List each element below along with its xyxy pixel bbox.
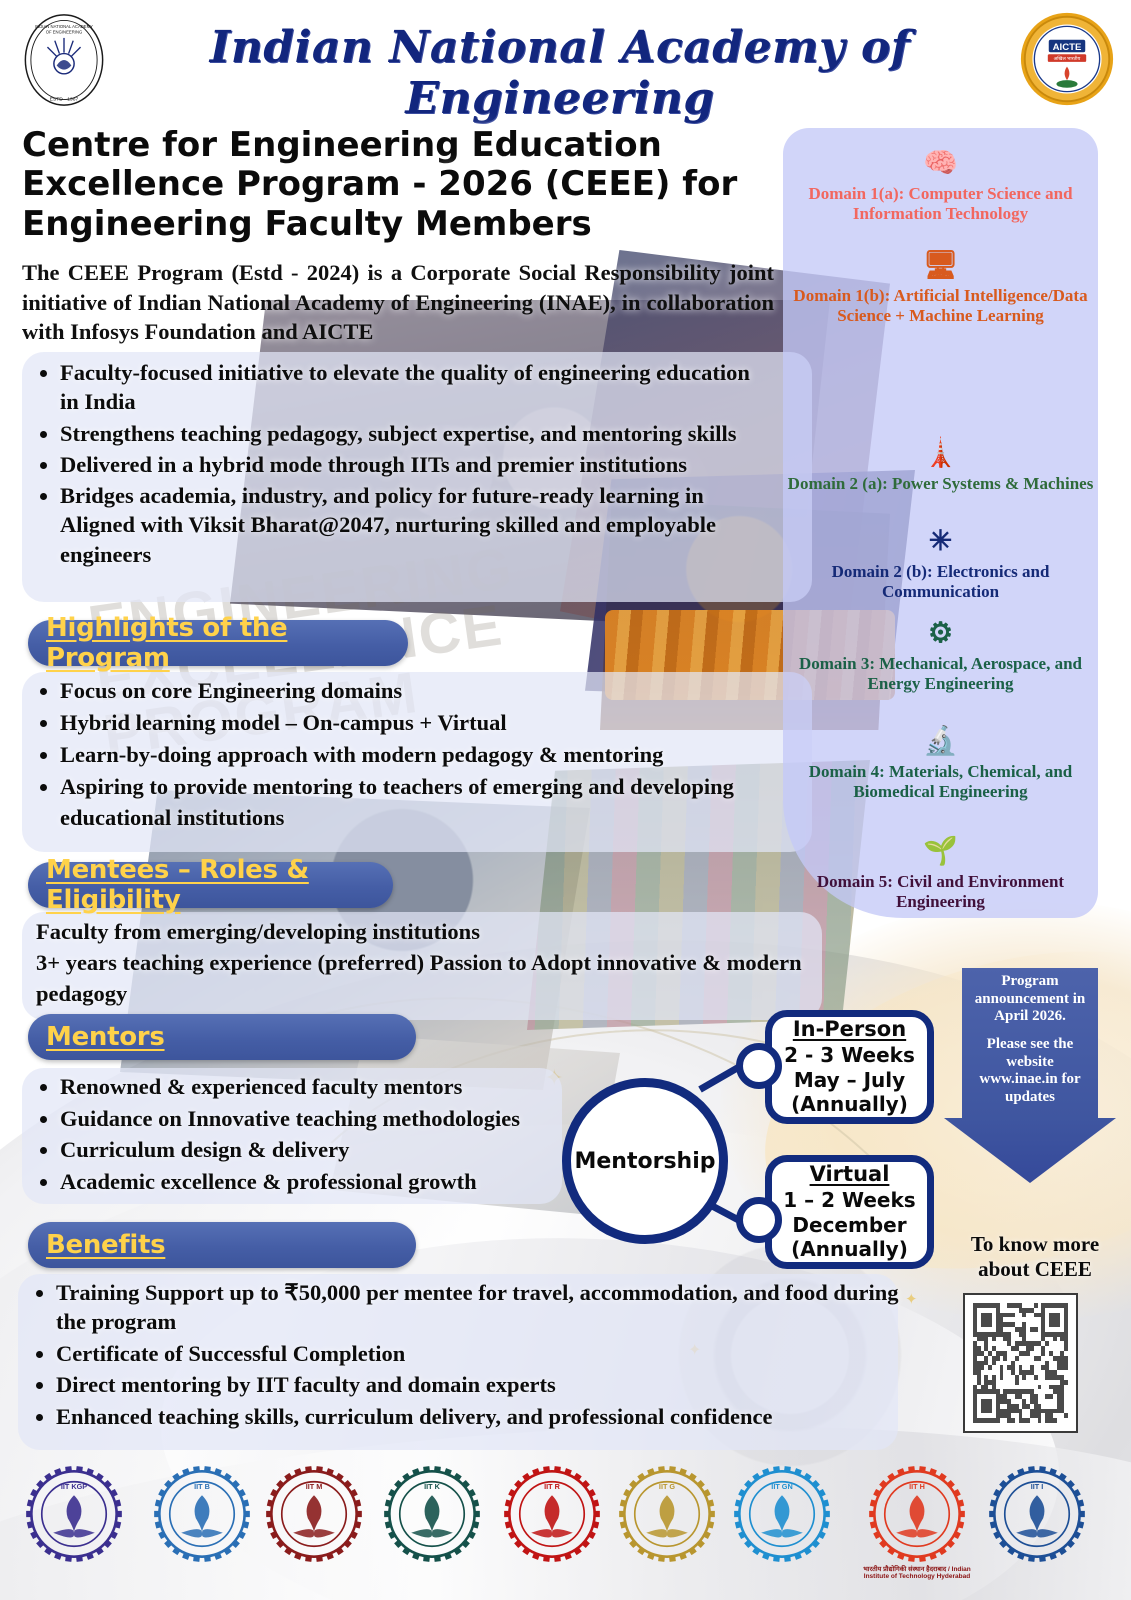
benefits-heading-label: Benefits — [46, 1230, 165, 1260]
benefits-bullet-list: Training Support up to ₹50,000 per mente… — [18, 1278, 926, 1433]
monitor-lightbulb-icon: 🖥 — [783, 252, 1098, 280]
domain-item-7: 🌱Domain 5: Civil and Environment Enginee… — [783, 838, 1098, 913]
list-item: Guidance on Innovative teaching methodol… — [60, 1104, 608, 1134]
mode-line: (Annually) — [772, 1237, 927, 1261]
list-item: Aspiring to provide mentoring to teacher… — [60, 772, 820, 832]
list-item: Academic excellence & professional growt… — [60, 1167, 608, 1197]
list-item: Learn-by-doing approach with modern peda… — [60, 740, 820, 770]
domain-item-1: 🧠Domain 1(a): Computer Science and Infor… — [783, 150, 1098, 225]
svg-text:IIT R: IIT R — [544, 1482, 560, 1491]
qr-module — [1064, 1418, 1068, 1423]
iit-kanpur-logo: IIT K — [380, 1462, 484, 1566]
qr-caption: To know more about CEEE — [950, 1232, 1120, 1282]
highlights-bullet-list: Focus on core Engineering domainsHybrid … — [22, 676, 820, 835]
page-title: Centre for Engineering Education Excelle… — [22, 126, 782, 244]
announcement-line-2: Please see the website www.inae.in for u… — [966, 1036, 1094, 1107]
mentees-heading-label: Mentees – Roles & Eligibility — [46, 855, 393, 915]
mentees-eligibility-text: Faculty from emerging/developing institu… — [36, 916, 826, 1009]
domain-item-6: 🔬Domain 4: Materials, Chemical, and Biom… — [783, 728, 1098, 803]
svg-text:AICTE: AICTE — [1053, 42, 1082, 53]
iit-gandhinagar-logo: IIT GN — [730, 1462, 834, 1566]
logo-caption: भारतीय प्रौद्योगिकी संस्थान हैदराबाद / I… — [852, 1566, 982, 1581]
svg-text:INDIAN NATIONAL ACADEMY: INDIAN NATIONAL ACADEMY — [35, 24, 93, 29]
domain-item-5: ⚙Domain 3: Mechanical, Aerospace, and En… — [783, 620, 1098, 695]
domain-item-2: 🖥Domain 1(b): Artificial Intelligence/Da… — [783, 252, 1098, 327]
list-item: Bridges academia, industry, and policy f… — [60, 481, 760, 569]
list-item: Enhanced teaching skills, curriculum del… — [56, 1402, 926, 1431]
svg-text:IIT B: IIT B — [194, 1482, 210, 1491]
circuit-node-icon: ✳ — [783, 528, 1098, 556]
junction-node-virtual — [736, 1197, 782, 1243]
domain-label: Domain 2 (b): Electronics and Communicat… — [832, 562, 1050, 601]
aerospace-gears-icon: ⚙ — [783, 620, 1098, 648]
poster-header: ESTD - 1987 INDIAN NATIONAL ACADEMY OF E… — [0, 0, 1131, 118]
mentors-bullet-list: Renowned & experienced faculty mentorsGu… — [22, 1072, 608, 1199]
iit-kharagpur-logo: IIT KGP — [22, 1462, 126, 1566]
list-item: Renowned & experienced faculty mentors — [60, 1072, 608, 1102]
inae-seal-icon: ESTD - 1987 INDIAN NATIONAL ACADEMY OF E… — [18, 12, 110, 108]
academy-title: Indian National Academy of Engineering — [120, 22, 1000, 124]
announcement-body: Program announcement in April 2026. Plea… — [962, 968, 1098, 1118]
svg-text:IIT H: IIT H — [909, 1482, 925, 1491]
domain-label: Domain 2 (a): Power Systems & Machines — [788, 474, 1094, 493]
domain-label: Domain 3: Mechanical, Aerospace, and Ene… — [799, 654, 1082, 693]
list-item: Training Support up to ₹50,000 per mente… — [56, 1278, 926, 1337]
benefits-heading-pill: Benefits — [28, 1222, 416, 1268]
plant-helmet-icon: 🌱 — [783, 838, 1098, 866]
list-item: Curriculum design & delivery — [60, 1135, 608, 1165]
svg-text:IIT I: IIT I — [1031, 1482, 1044, 1491]
domain-item-3: 🗼Domain 2 (a): Power Systems & Machines — [783, 440, 1098, 494]
list-item: Strengthens teaching pedagogy, subject e… — [60, 419, 760, 448]
svg-text:ESTD - 1987: ESTD - 1987 — [50, 96, 79, 102]
announcement-arrowhead — [944, 1118, 1116, 1183]
mentorship-center-node: Mentorship — [562, 1078, 728, 1244]
iit-roorkee-logo: IIT R — [500, 1462, 604, 1566]
svg-text:IIT K: IIT K — [424, 1482, 440, 1491]
mode-card-virtual: Virtual 1 – 2 Weeks December (Annually) — [765, 1155, 934, 1269]
list-item: Certificate of Successful Completion — [56, 1339, 926, 1368]
domain-label: Domain 1(a): Computer Science and Inform… — [808, 184, 1072, 223]
about-bullet-list: Faculty-focused initiative to elevate th… — [22, 358, 760, 571]
poster-root: ✦ ✦ ✦ ENGINEERING EXCELLENCE PROGRAM — [0, 0, 1131, 1600]
highlights-heading-pill: Highlights of the Program — [28, 620, 408, 666]
mentees-heading-pill: Mentees – Roles & Eligibility — [28, 862, 393, 908]
list-item: Focus on core Engineering domains — [60, 676, 820, 706]
svg-text:OF ENGINEERING: OF ENGINEERING — [46, 29, 83, 34]
domain-label: Domain 5: Civil and Environment Engineer… — [817, 872, 1064, 911]
announcement-arrow: Program announcement in April 2026. Plea… — [944, 968, 1116, 1183]
mode-heading: In-Person — [772, 1017, 927, 1041]
announcement-line-1: Program announcement in April 2026. — [966, 973, 1094, 1026]
brain-chip-icon: 🧠 — [783, 150, 1098, 178]
mentors-heading-label: Mentors — [46, 1022, 165, 1052]
list-item: Faculty-focused initiative to elevate th… — [60, 358, 760, 417]
list-item: Direct mentoring by IIT faculty and doma… — [56, 1370, 926, 1399]
mode-line: 2 - 3 Weeks — [772, 1043, 927, 1067]
domain-label: Domain 4: Materials, Chemical, and Biome… — [809, 762, 1072, 801]
power-tower-icon: 🗼 — [783, 440, 1098, 468]
qr-code[interactable] — [963, 1293, 1078, 1433]
mode-line: (Annually) — [772, 1092, 927, 1116]
mode-card-in-person: In-Person 2 - 3 Weeks May – July (Annual… — [765, 1010, 934, 1124]
list-item: Hybrid learning model – On-campus + Virt… — [60, 708, 820, 738]
iit-hyderabad-logo: IIT Hभारतीय प्रौद्योगिकी संस्थान हैदराबा… — [865, 1462, 969, 1566]
mentors-heading-pill: Mentors — [28, 1014, 416, 1060]
list-item: Delivered in a hybrid mode through IITs … — [60, 450, 760, 479]
svg-text:IIT G: IIT G — [659, 1482, 675, 1491]
iit-madras-logo: IIT M — [262, 1462, 366, 1566]
mode-line: 1 – 2 Weeks — [772, 1188, 927, 1212]
microscope-gear-icon: 🔬 — [783, 728, 1098, 756]
qr-code-matrix — [973, 1303, 1068, 1423]
mode-heading: Virtual — [772, 1162, 927, 1186]
mode-line: December — [772, 1213, 927, 1237]
svg-text:IIT M: IIT M — [306, 1482, 323, 1491]
aicte-seal-icon: AICTE अखिल भारतीय — [1019, 10, 1115, 108]
domain-label: Domain 1(b): Artificial Intelligence/Dat… — [793, 286, 1087, 325]
mentorship-center-label: Mentorship — [574, 1149, 715, 1174]
iit-bombay-logo: IIT B — [150, 1462, 254, 1566]
iit-guwahati-logo: IIT G — [615, 1462, 719, 1566]
svg-text:IIT GN: IIT GN — [771, 1482, 792, 1491]
mode-line: May – July — [772, 1068, 927, 1092]
junction-node-in-person — [736, 1043, 782, 1089]
highlights-heading-label: Highlights of the Program — [46, 613, 408, 673]
iit-indore-logo: IIT I — [985, 1462, 1089, 1566]
svg-text:IIT KGP: IIT KGP — [61, 1482, 87, 1491]
domain-item-4: ✳Domain 2 (b): Electronics and Communica… — [783, 528, 1098, 603]
partner-logos-row: IIT KGPIIT BIIT MIIT KIIT RIIT GIIT GNII… — [0, 1452, 1131, 1600]
intro-paragraph: The CEEE Program (Estd - 2024) is a Corp… — [22, 258, 774, 347]
